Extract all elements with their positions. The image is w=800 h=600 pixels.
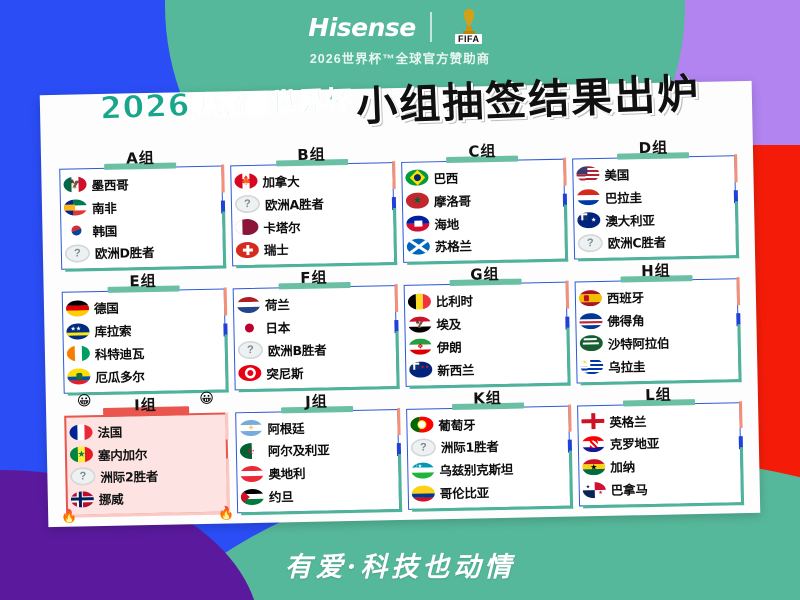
panama-flag-icon: ★★	[583, 481, 606, 497]
title-year: 2026	[99, 87, 191, 126]
team-row: ?洲际2胜者	[70, 464, 222, 488]
team-row: 厄瓜多尔	[67, 363, 221, 387]
card-blue-marker	[392, 197, 396, 210]
team-row: 沙特阿拉伯	[580, 330, 734, 354]
team-row: ★加纳	[582, 454, 736, 478]
group-card-h: H组西班牙佛得角沙特阿拉伯☀乌拉圭	[574, 263, 739, 384]
title-year-suffix: 美加墨世界杯	[189, 86, 352, 122]
team-row: ?欧洲C胜者	[578, 230, 732, 254]
card-blue-marker	[563, 193, 567, 206]
team-row: 美国	[576, 161, 730, 185]
unknown-team-flag-icon: ?	[70, 468, 95, 486]
group-title-a: A组	[126, 151, 155, 167]
card-edge-accent	[412, 506, 573, 512]
team-name: 厄瓜多尔	[95, 366, 145, 386]
team-name: 突尼斯	[266, 363, 303, 383]
croatia-flag-icon	[582, 436, 605, 452]
team-row: ?欧洲A胜者	[235, 191, 389, 215]
england-flag-icon	[581, 413, 604, 429]
card-blue-marker	[565, 317, 569, 330]
team-row: 西班牙	[579, 285, 733, 309]
title-block: 2026美加墨世界杯 小组抽签结果出炉	[0, 68, 800, 126]
norway-flag-icon	[71, 491, 94, 507]
team-name: 欧洲C胜者	[608, 232, 667, 252]
unknown-team-flag-icon: ?	[238, 341, 263, 359]
argentina-flag-icon: ☀	[239, 420, 262, 436]
haiti-flag-icon	[406, 215, 429, 231]
unknown-team-flag-icon: ?	[65, 244, 90, 262]
team-row: 哥伦比亚	[412, 480, 566, 504]
team-row: 约旦	[241, 483, 395, 507]
team-row: 南非	[64, 194, 218, 218]
team-row: ★★巴拿马	[583, 476, 737, 500]
paraguay-flag-icon	[577, 189, 600, 205]
team-name: 奥地利	[268, 463, 305, 483]
smiley-face-icon-left: 😀	[77, 392, 92, 409]
hisense-logo: Hisense	[308, 13, 415, 42]
team-name: 西班牙	[607, 287, 644, 307]
team-row: 巴西	[405, 165, 559, 189]
team-name: 巴拉圭	[605, 187, 642, 207]
trophy-icon	[458, 8, 480, 35]
team-row: ☀阿根廷	[239, 415, 393, 439]
team-name: 阿根廷	[267, 418, 304, 438]
team-name: 挪威	[99, 489, 124, 508]
usa-flag-icon	[576, 166, 599, 182]
team-name: 乌拉圭	[608, 356, 645, 376]
portugal-flag-icon	[410, 416, 433, 432]
team-name: 欧洲D胜者	[95, 242, 155, 262]
scotland-flag-icon	[407, 238, 430, 254]
mexico-flag-icon: 🦅	[63, 177, 86, 193]
team-row: 巴拉圭	[577, 184, 731, 208]
qatar-flag-icon	[235, 219, 258, 235]
card-edge-accent	[241, 509, 402, 515]
japan-flag-icon	[237, 319, 260, 335]
team-row: ☪阿尔及利亚	[240, 438, 394, 462]
header: Hisense FIFA 2026世界杯™全球官方赞助商	[0, 8, 800, 67]
canada-flag-icon: 🍁	[234, 173, 257, 189]
card-blue-marker	[739, 437, 743, 450]
team-row: 荷兰	[237, 291, 391, 315]
card-blue-marker	[736, 313, 740, 326]
team-name: 摩洛哥	[434, 190, 471, 210]
team-name: 阿尔及利亚	[268, 440, 330, 460]
team-name: 韩国	[92, 220, 117, 239]
card-edge-accent	[410, 382, 571, 388]
team-name: 新西兰	[437, 359, 474, 379]
team-row: 🍁加拿大	[234, 168, 388, 192]
group-card-k: K组葡萄牙?洲际1胜者☽★乌兹别克斯坦哥伦比亚	[406, 389, 571, 510]
team-row: 🦅墨西哥	[63, 172, 217, 196]
card-edge-accent	[581, 379, 742, 385]
card-blue-marker	[397, 443, 401, 456]
group-card-c: C组巴西★摩洛哥海地苏格兰	[401, 143, 566, 264]
team-name: 科特迪瓦	[95, 343, 145, 363]
team-row: 卡塔尔	[235, 214, 389, 238]
card-edge-accent	[239, 386, 400, 392]
group-title-g: G组	[470, 267, 500, 283]
senegal-flag-icon: ★	[70, 446, 93, 462]
france-flag-icon	[69, 424, 92, 440]
belgium-flag-icon	[408, 293, 431, 309]
team-row: ?欧洲D胜者	[65, 240, 219, 264]
group-card-a: A组🦅墨西哥南非韩国?欧洲D胜者	[59, 150, 224, 271]
uruguay-flag-icon: ☀	[580, 358, 603, 374]
group-list-k: 葡萄牙?洲际1胜者☽★乌兹别克斯坦哥伦比亚	[406, 405, 571, 510]
team-name: 克罗地亚	[610, 433, 660, 453]
austria-flag-icon	[240, 465, 263, 481]
team-name: 洲际1胜者	[441, 436, 499, 456]
team-row: ❖伊朗	[409, 334, 563, 358]
group-title-e: E组	[129, 274, 157, 290]
card-edge-accent	[583, 502, 744, 508]
smiley-face-icon-right: 😀	[199, 389, 214, 406]
group-title-f: F组	[300, 271, 328, 287]
group-title-i: I组	[134, 398, 157, 413]
team-row: 法国	[69, 419, 221, 443]
card-blue-marker	[734, 190, 738, 203]
team-name: 海地	[434, 213, 459, 232]
team-name: 南非	[92, 197, 117, 216]
switzerland-flag-icon	[236, 242, 259, 258]
card-blue-marker	[568, 440, 572, 453]
team-name: 日本	[265, 317, 290, 336]
fifa-world-cup-trophy-icon: FIFA	[446, 8, 492, 46]
team-row: 瑞士	[236, 237, 390, 261]
new-zealand-flag-icon: ★★	[409, 362, 432, 378]
team-name: 乌兹别克斯坦	[439, 459, 513, 479]
title-year-line: 2026美加墨世界杯	[99, 80, 353, 127]
team-name: 洲际2胜者	[100, 466, 158, 486]
unknown-team-flag-icon: ?	[235, 195, 260, 213]
team-name: 佛得角	[607, 310, 644, 330]
group-list-l: 英格兰克罗地亚★加纳★★巴拿马	[577, 402, 742, 507]
team-row: 挪威	[71, 486, 223, 510]
group-card-e: E组德国★★库拉索科特迪瓦厄瓜多尔	[61, 273, 226, 394]
team-row: 佛得角	[579, 307, 733, 331]
group-card-j: J组☀阿根廷☪阿尔及利亚奥地利约旦	[235, 393, 400, 514]
card-edge-accent	[71, 511, 230, 517]
spain-flag-icon	[579, 290, 602, 306]
team-row: ☽★乌兹别克斯坦	[411, 457, 565, 481]
team-row: 韩国	[64, 217, 218, 241]
team-name: 德国	[94, 298, 119, 317]
cape-verde-flag-icon	[579, 313, 602, 329]
team-name: 伊朗	[437, 337, 462, 356]
team-row: ★★库拉索	[66, 318, 220, 342]
group-card-i: I组😀😀法国★塞内加尔?洲际2胜者挪威🔥🔥	[64, 396, 229, 517]
ivory-coast-flag-icon	[67, 346, 90, 362]
team-name: 哥伦比亚	[440, 482, 490, 502]
curacao-flag-icon: ★★	[66, 323, 89, 339]
card-blue-marker	[394, 320, 398, 333]
team-row: 🦅埃及	[408, 311, 562, 335]
iran-flag-icon: ❖	[409, 339, 432, 355]
unknown-team-flag-icon: ?	[578, 234, 603, 252]
algeria-flag-icon: ☪	[240, 443, 263, 459]
card-edge-accent	[407, 259, 568, 265]
team-name: 墨西哥	[91, 174, 128, 194]
flame-icon-left: 🔥	[61, 509, 78, 525]
group-list-j: ☀阿根廷☪阿尔及利亚奥地利约旦	[235, 409, 400, 514]
card-blue-marker	[223, 324, 227, 337]
group-list-c: 巴西★摩洛哥海地苏格兰	[401, 159, 566, 264]
colombia-flag-icon	[412, 485, 435, 501]
team-row: ★摩洛哥	[406, 188, 560, 212]
morocco-flag-icon: ★	[406, 193, 429, 209]
saudi-arabia-flag-icon	[580, 335, 603, 351]
team-row: 突尼斯	[238, 360, 392, 384]
group-title-l: L组	[645, 387, 672, 403]
egypt-flag-icon: 🦅	[408, 316, 431, 332]
group-list-e: 德国★★库拉索科特迪瓦厄瓜多尔	[62, 289, 227, 394]
team-row: 英格兰	[581, 408, 735, 432]
uzbekistan-flag-icon: ☽★	[411, 462, 434, 478]
footer-slogan: 有爱·科技也动情	[0, 545, 800, 584]
team-name: 加拿大	[262, 171, 299, 191]
team-name: 欧洲A胜者	[265, 193, 324, 213]
team-row: ★澳大利亚	[577, 207, 731, 231]
brand-divider	[430, 12, 432, 42]
team-row: ☀乌拉圭	[580, 353, 734, 377]
team-name: 苏格兰	[435, 236, 472, 256]
group-title-c: C组	[468, 144, 496, 160]
unknown-team-flag-icon: ?	[411, 438, 436, 456]
germany-flag-icon	[66, 300, 89, 316]
team-name: 英格兰	[609, 411, 646, 431]
team-name: 巴西	[433, 168, 458, 187]
jordan-flag-icon	[241, 488, 264, 504]
team-row: 克罗地亚	[582, 431, 736, 455]
group-title-b: B组	[297, 147, 326, 163]
team-row: 奥地利	[240, 460, 394, 484]
team-row: 葡萄牙	[410, 411, 564, 435]
group-card-b: B组🍁加拿大?欧洲A胜者卡塔尔瑞士	[230, 146, 395, 267]
group-card-l: L组英格兰克罗地亚★加纳★★巴拿马	[577, 386, 742, 507]
team-row: ★★新西兰	[409, 356, 563, 380]
australia-flag-icon: ★	[577, 212, 600, 228]
team-row: ★塞内加尔	[70, 441, 222, 465]
fifa-wordmark: FIFA	[455, 34, 483, 44]
group-list-g: 比利时🦅埃及❖伊朗★★新西兰	[404, 282, 569, 387]
card-edge-accent	[578, 256, 739, 262]
south-africa-flag-icon	[64, 199, 87, 215]
group-list-i: 法国★塞内加尔?洲际2胜者挪威	[64, 412, 229, 517]
team-name: 沙特阿拉伯	[608, 332, 670, 352]
brand-row: Hisense FIFA	[0, 8, 800, 46]
group-list-b: 🍁加拿大?欧洲A胜者卡塔尔瑞士	[230, 162, 395, 267]
page-title: 小组抽签结果出炉	[355, 59, 701, 132]
team-name: 埃及	[436, 314, 461, 333]
team-name: 瑞士	[264, 240, 289, 259]
group-list-h: 西班牙佛得角沙特阿拉伯☀乌拉圭	[575, 279, 740, 384]
team-name: 加纳	[610, 457, 635, 476]
team-name: 塞内加尔	[98, 444, 148, 464]
team-row: 日本	[237, 314, 391, 338]
card-edge-accent	[236, 262, 397, 268]
team-name: 卡塔尔	[263, 217, 300, 237]
group-title-j: J组	[305, 394, 328, 409]
team-name: 约旦	[269, 486, 294, 505]
tunisia-flag-icon	[238, 365, 261, 381]
team-name: 巴拿马	[611, 479, 648, 499]
group-card-g: G组比利时🦅埃及❖伊朗★★新西兰	[403, 266, 568, 387]
south-korea-flag-icon	[64, 222, 87, 238]
group-card-f: F组荷兰日本?欧洲B胜者突尼斯	[232, 269, 397, 390]
group-list-a: 🦅墨西哥南非韩国?欧洲D胜者	[59, 166, 224, 271]
team-row: ?洲际1胜者	[411, 434, 565, 458]
group-title-d: D组	[639, 141, 669, 157]
footer: 有爱·科技也动情	[0, 545, 800, 584]
team-row: 海地	[406, 210, 560, 234]
group-list-d: 美国巴拉圭★澳大利亚?欧洲C胜者	[572, 155, 737, 260]
team-row: 苏格兰	[407, 233, 561, 257]
groups-grid: A组🦅墨西哥南非韩国?欧洲D胜者B组🍁加拿大?欧洲A胜者卡塔尔瑞士C组巴西★摩洛…	[40, 81, 761, 527]
group-title-k: K组	[473, 391, 502, 407]
team-name: 葡萄牙	[438, 414, 475, 434]
ghana-flag-icon: ★	[582, 459, 605, 475]
team-row: 比利时	[408, 288, 562, 312]
ecuador-flag-icon	[67, 368, 90, 384]
netherlands-flag-icon	[237, 297, 260, 313]
group-list-f: 荷兰日本?欧洲B胜者突尼斯	[233, 285, 398, 390]
team-name: 欧洲B胜者	[268, 339, 327, 359]
flame-icon-right: 🔥	[218, 505, 235, 521]
team-name: 比利时	[436, 291, 473, 311]
team-name: 美国	[604, 164, 629, 183]
team-row: 科特迪瓦	[67, 340, 221, 364]
group-title-h: H组	[641, 264, 671, 280]
group-card-d: D组美国巴拉圭★澳大利亚?欧洲C胜者	[572, 139, 737, 260]
team-row: 德国	[66, 295, 220, 319]
team-name: 荷兰	[265, 294, 290, 313]
team-row: ?欧洲B胜者	[238, 337, 392, 361]
brazil-flag-icon	[405, 170, 428, 186]
card-edge-accent	[65, 266, 226, 272]
card-blue-marker	[221, 200, 225, 213]
team-name: 法国	[97, 422, 122, 441]
team-name: 库拉索	[94, 320, 131, 340]
team-name: 澳大利亚	[605, 209, 655, 229]
